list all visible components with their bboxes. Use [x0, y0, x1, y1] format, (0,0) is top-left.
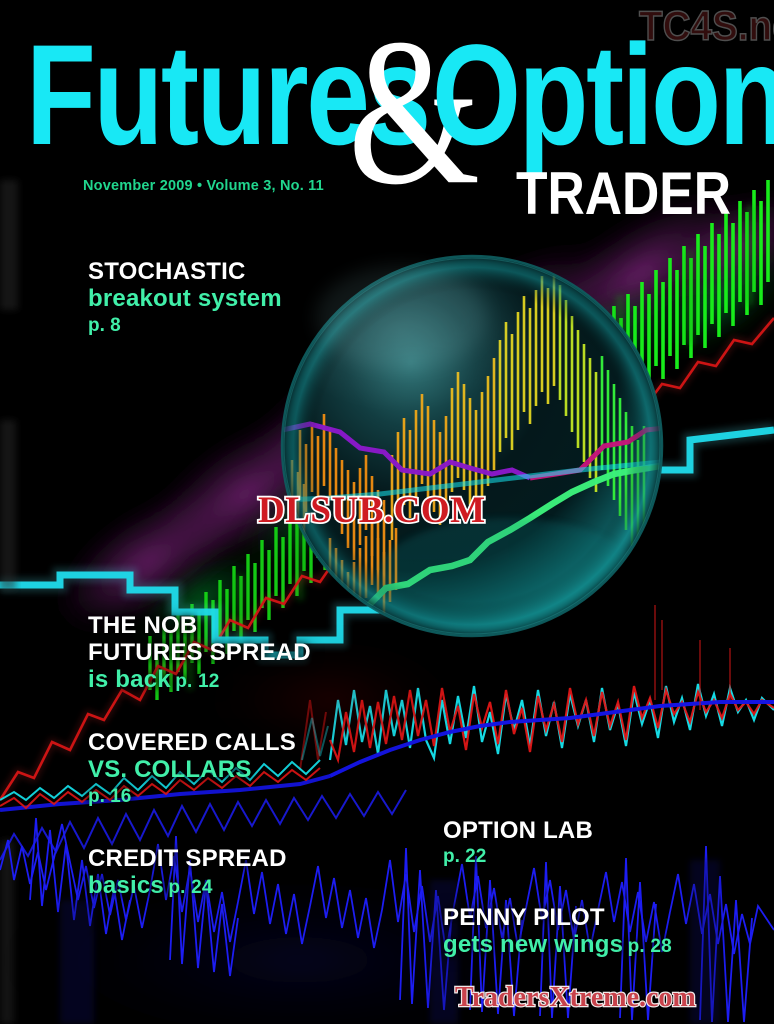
watermark-tradersxtreme: TradersXtreme.com	[455, 982, 696, 1014]
cover-line-covered-calls-page: p. 16	[88, 784, 296, 810]
cover-line-penny-pilot-title: PENNY PILOT	[443, 904, 672, 931]
cover-line-covered-calls[interactable]: COVERED CALLS VS. COLLARS p. 16	[88, 729, 296, 810]
cover-line-nob-page: p. 12	[175, 671, 219, 692]
cover-line-option-lab-page: p. 22	[443, 844, 593, 870]
watermark-dlsub: DLSUB.COM	[258, 489, 486, 532]
issue-line: November 2009 • Volume 3, No. 11	[83, 178, 324, 194]
globe-highlight	[316, 266, 488, 370]
cover-line-credit-spread-page: p. 24	[168, 877, 212, 898]
cover-line-stochastic-title: STOCHASTIC	[88, 258, 282, 285]
cover-line-penny-pilot[interactable]: PENNY PILOT gets new wings p. 28	[443, 904, 672, 959]
cover-line-penny-pilot-page: p. 28	[628, 936, 672, 957]
magazine-cover: Futures & Options TRADER November 2009 •…	[0, 0, 774, 1024]
cover-line-stochastic-page: p. 8	[88, 313, 282, 339]
cover-line-nob-subtitle-row: is back p. 12	[88, 666, 311, 694]
magazine-title-trader: TRADER	[516, 164, 731, 224]
cover-line-covered-calls-title: COVERED CALLS	[88, 729, 296, 756]
cover-line-nob-subtitle: is back	[88, 666, 171, 693]
cover-line-credit-spread-subtitle: basics	[88, 872, 164, 899]
cover-line-penny-pilot-subtitle-row: gets new wings p. 28	[443, 931, 672, 959]
cover-line-option-lab[interactable]: OPTION LAB p. 22	[443, 817, 593, 870]
cover-line-penny-pilot-subtitle: gets new wings	[443, 931, 623, 958]
cover-line-option-lab-title: OPTION LAB	[443, 817, 593, 844]
cover-line-credit-spread[interactable]: CREDIT SPREAD basics p. 24	[88, 845, 287, 900]
cover-line-covered-calls-subtitle: VS. COLLARS	[88, 756, 296, 784]
cover-line-stochastic-subtitle: breakout system	[88, 285, 282, 313]
cover-line-stochastic[interactable]: STOCHASTIC breakout system p. 8	[88, 258, 282, 339]
watermark-tc4s: TC4S.net	[639, 2, 774, 50]
cover-line-credit-spread-title: CREDIT SPREAD	[88, 845, 287, 872]
cover-line-nob-title-2: FUTURES SPREAD	[88, 639, 311, 666]
cover-line-credit-spread-subtitle-row: basics p. 24	[88, 872, 287, 900]
cover-line-nob-futures-spread[interactable]: THE NOB FUTURES SPREAD is back p. 12	[88, 612, 311, 694]
cover-line-nob-title-1: THE NOB	[88, 612, 311, 639]
